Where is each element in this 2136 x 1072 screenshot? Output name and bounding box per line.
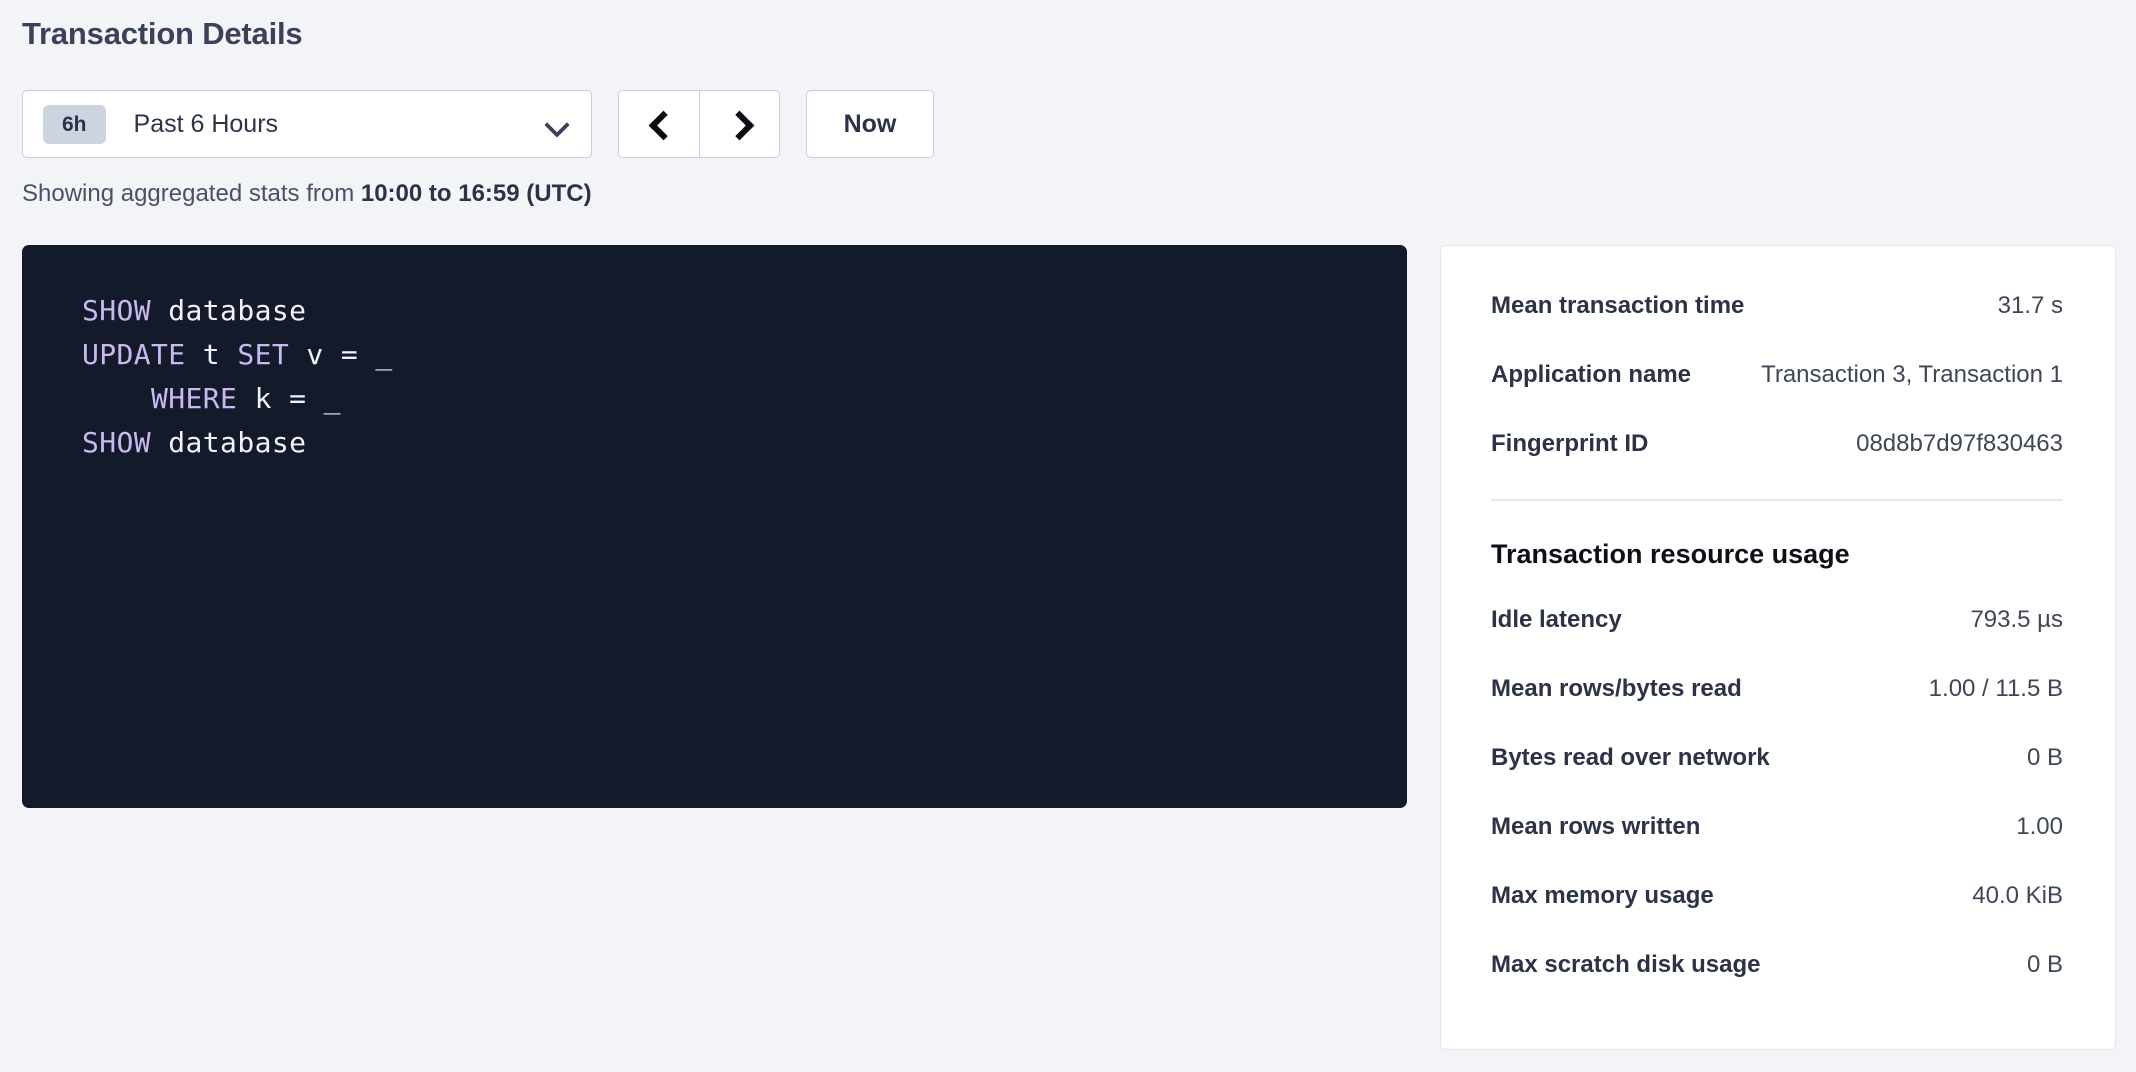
transaction-details-page: Transaction Details 6h Past 6 Hours Now …: [0, 0, 2136, 1072]
sql-code-line: UPDATE t SET v = _: [82, 333, 1407, 377]
detail-value: 08d8b7d97f830463: [1856, 430, 2063, 458]
sql-text: k = _: [237, 382, 341, 415]
stats-caption-range: 10:00 to 16:59 (UTC): [361, 180, 592, 207]
stats-caption-prefix: Showing aggregated stats from: [22, 180, 361, 207]
sql-code-lines: SHOW databaseUPDATE t SET v = _ WHERE k …: [82, 289, 1407, 465]
detail-label: Idle latency: [1491, 606, 1622, 634]
now-button[interactable]: Now: [806, 90, 934, 158]
chevron-down-icon: [545, 112, 569, 136]
detail-row: Mean rows written1.00: [1491, 813, 2063, 841]
resource-usage-rows: Idle latency793.5 µsMean rows/bytes read…: [1491, 606, 2063, 979]
sql-text: v = _: [289, 338, 393, 371]
page-title: Transaction Details: [22, 16, 302, 52]
resource-usage-title: Transaction resource usage: [1491, 539, 2063, 570]
detail-row: Mean transaction time31.7 s: [1491, 292, 2063, 320]
detail-value: 1.00 / 11.5 B: [1929, 675, 2063, 703]
detail-value: 1.00: [2016, 813, 2063, 841]
transaction-details-card: Mean transaction time31.7 sApplication n…: [1440, 245, 2116, 1050]
sql-code-line: WHERE k = _: [82, 377, 1407, 421]
sql-text: database: [151, 426, 306, 459]
detail-label: Bytes read over network: [1491, 744, 1770, 772]
sql-keyword: SHOW: [82, 426, 151, 459]
sql-keyword: UPDATE: [82, 338, 186, 371]
sql-keyword: WHERE: [151, 382, 237, 415]
sql-code-block[interactable]: SHOW databaseUPDATE t SET v = _ WHERE k …: [22, 245, 1407, 808]
sql-code-line: SHOW database: [82, 421, 1407, 465]
time-nav-group: [618, 90, 780, 158]
detail-value: 40.0 KiB: [1972, 882, 2063, 910]
time-range-label: Past 6 Hours: [134, 110, 545, 139]
detail-value: Transaction 3, Transaction 1: [1761, 361, 2063, 389]
detail-row: Max scratch disk usage0 B: [1491, 951, 2063, 979]
detail-row: Max memory usage40.0 KiB: [1491, 882, 2063, 910]
chevron-left-icon: [646, 111, 672, 137]
next-period-button[interactable]: [699, 91, 779, 157]
detail-row: Mean rows/bytes read1.00 / 11.5 B: [1491, 675, 2063, 703]
time-range-select[interactable]: 6h Past 6 Hours: [22, 90, 592, 158]
detail-label: Mean rows/bytes read: [1491, 675, 1742, 703]
sql-text: t: [186, 338, 238, 371]
detail-label: Fingerprint ID: [1491, 430, 1648, 458]
chevron-right-icon: [727, 111, 753, 137]
detail-label: Mean transaction time: [1491, 292, 1744, 320]
card-divider: [1491, 499, 2063, 501]
sql-keyword: SHOW: [82, 294, 151, 327]
detail-label: Max memory usage: [1491, 882, 1714, 910]
detail-row: Idle latency793.5 µs: [1491, 606, 2063, 634]
time-range-toolbar: 6h Past 6 Hours Now: [22, 90, 934, 158]
time-range-badge: 6h: [43, 105, 106, 144]
detail-value: 0 B: [2027, 951, 2063, 979]
sql-code-line: SHOW database: [82, 289, 1407, 333]
previous-period-button[interactable]: [619, 91, 699, 157]
detail-label: Max scratch disk usage: [1491, 951, 1760, 979]
sql-keyword: SET: [237, 338, 289, 371]
detail-label: Application name: [1491, 361, 1691, 389]
summary-rows: Mean transaction time31.7 sApplication n…: [1491, 292, 2063, 458]
sql-text: [82, 382, 151, 415]
detail-value: 0 B: [2027, 744, 2063, 772]
detail-label: Mean rows written: [1491, 813, 1700, 841]
sql-text: database: [151, 294, 306, 327]
detail-row: Application nameTransaction 3, Transacti…: [1491, 361, 2063, 389]
aggregated-stats-caption: Showing aggregated stats from 10:00 to 1…: [22, 180, 592, 208]
detail-row: Fingerprint ID08d8b7d97f830463: [1491, 430, 2063, 458]
detail-value: 31.7 s: [1998, 292, 2063, 320]
detail-row: Bytes read over network0 B: [1491, 744, 2063, 772]
detail-value: 793.5 µs: [1970, 606, 2063, 634]
